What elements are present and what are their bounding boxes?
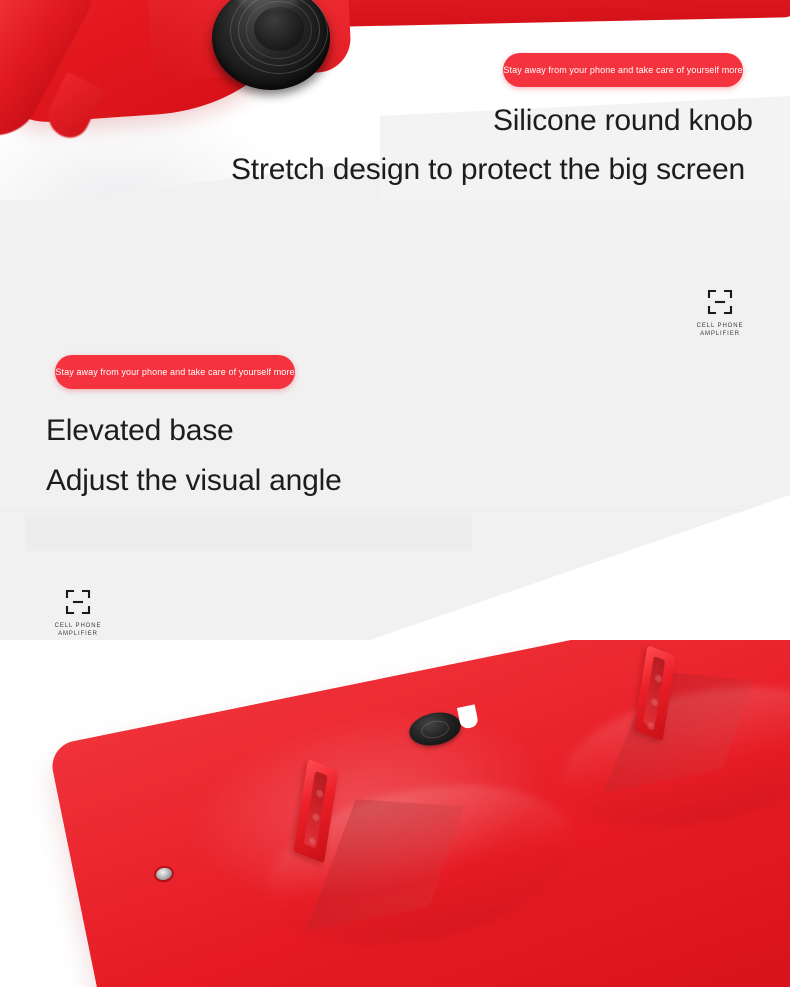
kickstand-flap-slot [643,656,665,728]
heading-stretch-design: Stretch design to protect the big screen [231,153,745,187]
kickstand-hole [646,721,655,732]
tagline-badge-top-label: Stay away from your phone and take care … [503,65,742,75]
scan-frame-icon [64,588,92,616]
tagline-badge-middle: Stay away from your phone and take care … [55,355,295,389]
kickstand-hole [312,812,321,823]
grommet-inner-ring [420,718,451,740]
kickstand-hole [308,836,317,847]
silicone-knob [204,0,336,102]
heading-adjust-visual-angle: Adjust the visual angle [46,464,342,498]
brand-logo-bottom: CELL PHONE AMPLIFIER [48,588,108,638]
brand-name-line-1: CELL PHONE [697,323,744,329]
kickstand-hole [315,788,324,799]
panel-inner-shade [25,515,472,551]
kickstand-hole [650,697,659,708]
product-detail-page: Stay away from your phone and take care … [0,0,790,987]
brand-name-line-2: AMPLIFIER [58,631,98,637]
tagline-badge-middle-label: Stay away from your phone and take care … [55,367,294,377]
brand-name: CELL PHONE AMPLIFIER [697,322,744,338]
panel-divider [0,510,790,511]
brand-name-line-2: AMPLIFIER [700,331,740,337]
heading-silicone-round-knob: Silicone round knob [493,104,753,138]
kickstand-flap-slot [304,771,328,849]
brand-logo-top: CELL PHONE AMPLIFIER [690,288,750,338]
product-red-slab [327,0,790,27]
brand-name-line-1: CELL PHONE [55,623,102,629]
tagline-badge-top: Stay away from your phone and take care … [503,53,743,87]
kickstand-hole [654,673,663,684]
scan-frame-icon [706,288,734,316]
product-photo-bottom [0,640,790,987]
brand-name: CELL PHONE AMPLIFIER [55,622,102,638]
knob-center [254,7,304,51]
heading-elevated-base: Elevated base [46,414,234,448]
